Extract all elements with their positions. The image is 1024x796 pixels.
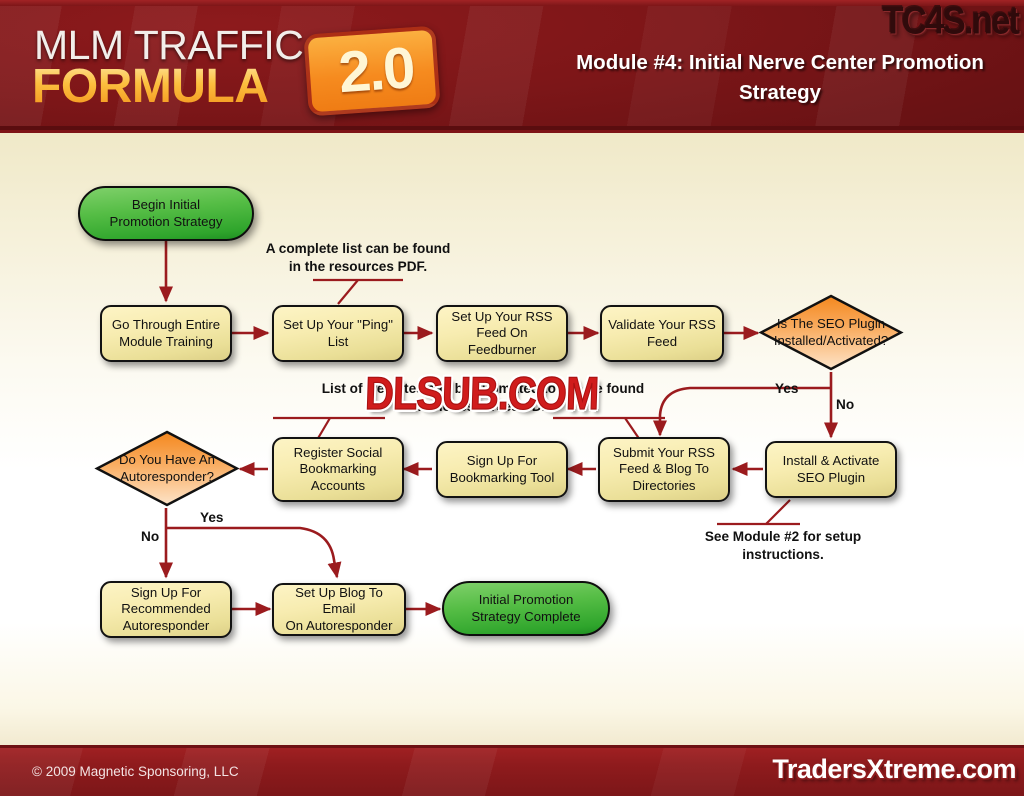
node-seo-plugin-check[interactable]: Is The SEO PluginInstalled/Activated? bbox=[758, 293, 904, 372]
node-blog-to-email-label: Set Up Blog To EmailOn Autoresponder bbox=[274, 585, 404, 635]
node-submit-rss-label: Submit Your RSSFeed & Blog ToDirectories bbox=[607, 445, 721, 495]
mlm-traffic-formula-logo: MLM TRAFFIC FORMULA 2.0 bbox=[26, 18, 436, 118]
node-autoresponder-check[interactable]: Do You Have AnAutoresponder? bbox=[94, 429, 240, 508]
node-validate-rss[interactable]: Validate Your RSSFeed bbox=[600, 305, 724, 362]
node-begin-label: Begin InitialPromotion Strategy bbox=[104, 197, 229, 230]
logo-version-text: 2.0 bbox=[308, 32, 444, 108]
node-bookmarking-tool[interactable]: Sign Up ForBookmarking Tool bbox=[436, 441, 568, 498]
page-title: Module #4: Initial Nerve Center Promotio… bbox=[560, 48, 1000, 107]
node-module-training-label: Go Through EntireModule Training bbox=[106, 317, 226, 350]
node-signup-autoresponder-label: Sign Up ForRecommendedAutoresponder bbox=[115, 585, 216, 635]
node-feedburner[interactable]: Set Up Your RSSFeed On Feedburner bbox=[436, 305, 568, 362]
dlsub-watermark: DLSUB.COM bbox=[364, 369, 599, 421]
edge-label-auto-yes: Yes bbox=[200, 510, 223, 525]
node-module-training[interactable]: Go Through EntireModule Training bbox=[100, 305, 232, 362]
edge-label-auto-no: No bbox=[141, 529, 159, 544]
node-blog-to-email[interactable]: Set Up Blog To EmailOn Autoresponder bbox=[272, 583, 406, 636]
logo-version-badge: 2.0 bbox=[303, 25, 440, 116]
node-install-seo-label: Install & ActivateSEO Plugin bbox=[777, 453, 886, 486]
node-register-social[interactable]: Register SocialBookmarkingAccounts bbox=[272, 437, 404, 502]
node-bookmarking-tool-label: Sign Up ForBookmarking Tool bbox=[444, 453, 561, 486]
node-install-seo[interactable]: Install & ActivateSEO Plugin bbox=[765, 441, 897, 498]
header-top-strip bbox=[0, 0, 1024, 6]
node-autoresponder-check-label: Do You Have AnAutoresponder? bbox=[113, 452, 221, 485]
logo-line2: FORMULA bbox=[32, 59, 268, 114]
edge-label-seo-no: No bbox=[836, 397, 854, 412]
annotation-seo-note: See Module #2 for setupinstructions. bbox=[690, 528, 876, 565]
node-signup-autoresponder[interactable]: Sign Up ForRecommendedAutoresponder bbox=[100, 581, 232, 638]
node-register-social-label: Register SocialBookmarkingAccounts bbox=[288, 445, 389, 495]
tc4s-watermark: TC4S.net bbox=[882, 0, 1018, 43]
node-validate-rss-label: Validate Your RSSFeed bbox=[602, 317, 722, 350]
node-begin[interactable]: Begin InitialPromotion Strategy bbox=[78, 186, 254, 241]
footer-brand: TradersXtreme.com bbox=[772, 754, 1016, 785]
node-ping-list-label: Set Up Your "Ping"List bbox=[277, 317, 399, 350]
annotation-ping-note: A complete list can be foundin the resou… bbox=[258, 240, 458, 277]
footer-copyright: © 2009 Magnetic Sponsoring, LLC bbox=[32, 764, 239, 779]
node-complete-label: Initial PromotionStrategy Complete bbox=[465, 592, 586, 625]
slide-header: MLM TRAFFIC FORMULA 2.0 Module #4: Initi… bbox=[0, 0, 1024, 133]
edge-label-seo-yes: Yes bbox=[775, 381, 798, 396]
header-bottom-rule bbox=[0, 126, 1024, 130]
slide-page: MLM TRAFFIC FORMULA 2.0 Module #4: Initi… bbox=[0, 0, 1024, 796]
node-seo-plugin-check-label: Is The SEO PluginInstalled/Activated? bbox=[768, 316, 894, 349]
node-submit-rss[interactable]: Submit Your RSSFeed & Blog ToDirectories bbox=[598, 437, 730, 502]
node-ping-list[interactable]: Set Up Your "Ping"List bbox=[272, 305, 404, 362]
node-complete[interactable]: Initial PromotionStrategy Complete bbox=[442, 581, 610, 636]
slide-footer: © 2009 Magnetic Sponsoring, LLC TradersX… bbox=[0, 745, 1024, 796]
node-feedburner-label: Set Up Your RSSFeed On Feedburner bbox=[438, 309, 566, 359]
